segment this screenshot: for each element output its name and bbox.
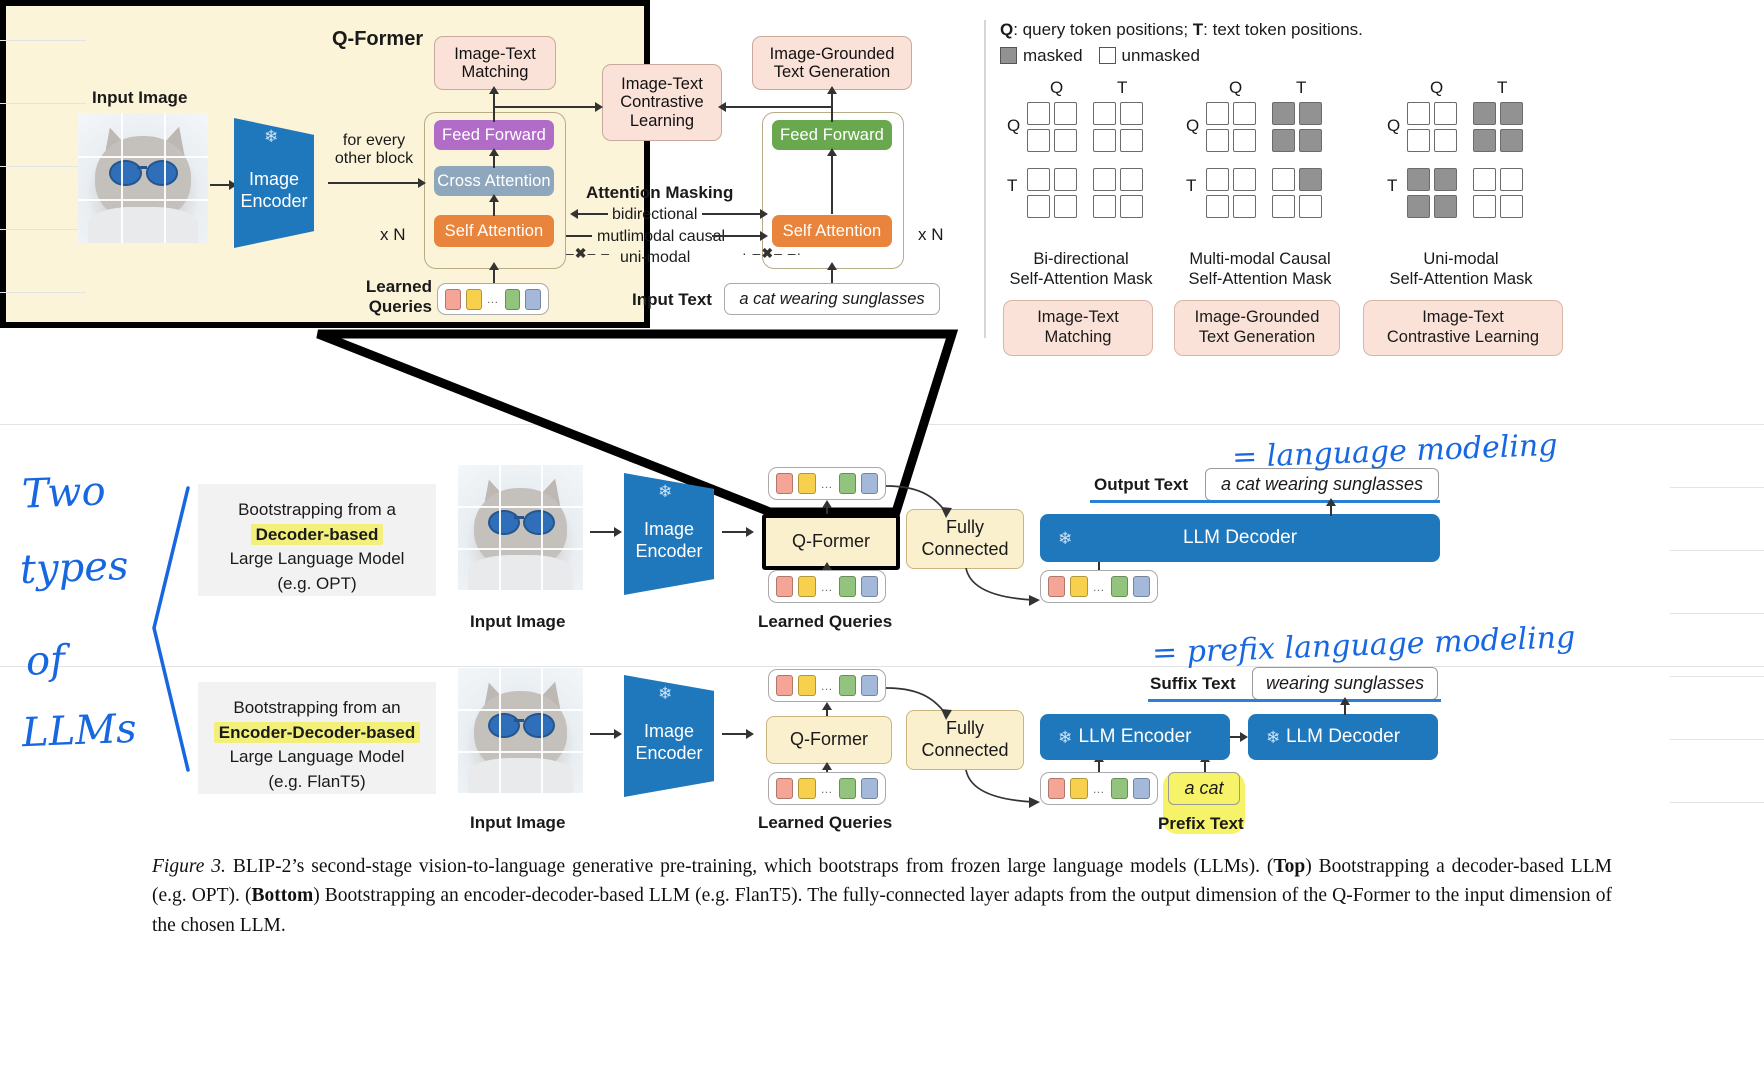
query-token-blue <box>861 778 878 799</box>
mask-cell-masked <box>1272 102 1295 125</box>
row2-qformer[interactable]: Q-Former <box>766 716 892 764</box>
legend-t-text: : text token positions. <box>1203 20 1363 39</box>
mask-cell-unmasked <box>1054 102 1077 125</box>
mask-cell-masked <box>1299 168 1322 191</box>
arrowhead <box>827 148 837 156</box>
mask-cell-masked <box>1407 195 1430 218</box>
mask-cell-unmasked <box>1206 102 1229 125</box>
mask-cell-masked <box>1299 102 1322 125</box>
row1-handwritten-annotation: = language modeling <box>1231 428 1558 475</box>
query-token-yellow <box>798 473 815 494</box>
query-token-green <box>1111 778 1128 799</box>
row2-input-image-label: Input Image <box>470 813 565 833</box>
mask-cell-unmasked <box>1093 102 1116 125</box>
qformer-input-text-label: Input Text <box>632 290 712 310</box>
arrowhead <box>718 102 726 112</box>
arrowhead <box>1340 697 1350 705</box>
query-token-green <box>505 289 521 310</box>
row1-llm-decoder: LLM Decoder <box>1040 514 1440 562</box>
mask-grid <box>1407 102 1525 220</box>
mask-cell-masked <box>1473 102 1496 125</box>
query-token-yellow <box>798 675 815 696</box>
arrowhead <box>827 262 837 270</box>
arrowhead <box>489 262 499 270</box>
arrow-image-to-encoder <box>210 184 230 186</box>
query-token-red <box>776 576 793 597</box>
row1-image-encoder-label: Image Encoder <box>635 505 702 562</box>
query-token-green <box>839 675 856 696</box>
row1-learned-queries: … <box>768 570 886 603</box>
row1-learned-queries-label: Learned Queries <box>758 612 892 632</box>
mask-cell-masked <box>1407 168 1430 191</box>
mask-cell-masked <box>1272 129 1295 152</box>
query-token-red <box>445 289 461 310</box>
token-ellipsis: … <box>821 580 834 594</box>
mask-cell-masked <box>1500 102 1523 125</box>
mask-cell-unmasked <box>1434 102 1457 125</box>
arrowhead <box>746 527 754 537</box>
query-token-blue <box>1133 778 1150 799</box>
arrowhead <box>489 86 499 94</box>
unmasked-label: unmasked <box>1122 46 1200 66</box>
arrowhead <box>760 209 768 219</box>
masked-swatch-icon <box>1000 47 1017 64</box>
snowflake-icon: ❄ <box>658 483 672 500</box>
arrowhead <box>595 102 603 112</box>
mask-cell-unmasked <box>1206 168 1229 191</box>
legend-q-text: : query token positions; <box>1013 20 1193 39</box>
arrow-encoder-to-cross <box>328 182 422 184</box>
qformer-input-text-value[interactable]: a cat wearing sunglasses <box>724 283 940 315</box>
caption-text: BLIP-2’s second-stage vision-to-language… <box>152 856 1612 936</box>
query-token-yellow <box>798 778 815 799</box>
mask-cell-unmasked <box>1093 195 1116 218</box>
mask-grid <box>1027 102 1145 220</box>
snowflake-icon: ❄ <box>658 685 672 702</box>
page-rule <box>1670 676 1764 677</box>
mask-cell-unmasked <box>1027 129 1050 152</box>
mask-group-multimodal-causal: Q T Q T Multi-modal Causal Self-Attentio… <box>1172 78 1352 220</box>
mask-cell-unmasked <box>1272 168 1295 191</box>
arrowhead <box>822 762 832 770</box>
arrowhead <box>822 702 832 710</box>
mask-cell-unmasked <box>1473 195 1496 218</box>
mask-col-label-q: Q <box>1430 78 1443 98</box>
query-token-blue <box>861 473 878 494</box>
learned-queries-label: Learned Queries <box>352 277 432 316</box>
page-rule <box>1670 613 1764 614</box>
mask-cell-masked <box>1434 195 1457 218</box>
right-block-repeat-label: x N <box>918 225 944 245</box>
row1-arrow-encoder-to-qformer <box>722 531 748 533</box>
mask-cell-unmasked <box>1120 168 1143 191</box>
image-encoder-label: Image Encoder <box>240 153 307 212</box>
arrowhead <box>1240 732 1248 742</box>
token-ellipsis: … <box>1093 580 1106 594</box>
arrowhead <box>822 562 832 570</box>
token-ellipsis: … <box>487 292 500 306</box>
handwriting-line-types: types <box>19 543 129 593</box>
mask-cell-unmasked <box>1500 168 1523 191</box>
mask-arrow-unimodal-dashed: –✖– – <box>566 245 610 261</box>
attention-masking-title: Attention Masking <box>586 183 733 203</box>
left-feed-forward: Feed Forward <box>434 120 554 150</box>
mask-cell-masked <box>1434 168 1457 191</box>
mask-row-label-q: Q <box>1387 116 1400 136</box>
row2-prefix-text-label: Prefix Text <box>1158 814 1244 834</box>
mask-arrow-causal <box>566 235 592 237</box>
left-self-attention: Self Attention <box>434 215 554 247</box>
mask-cell-unmasked <box>1407 129 1430 152</box>
mask-grid <box>1206 102 1324 220</box>
mask-cell-unmasked <box>1233 129 1256 152</box>
arrowhead <box>822 500 832 508</box>
row2-desc-line1: Bootstrapping from an <box>208 696 426 721</box>
figure-caption: Figure 3. BLIP-2’s second-stage vision-t… <box>152 852 1612 940</box>
query-token-green <box>839 473 856 494</box>
mask-task-pill: Image-Text Matching <box>1003 300 1153 356</box>
arrow-right-ff-to-itg <box>831 92 833 122</box>
mask-cell-unmasked <box>1233 168 1256 191</box>
mask-col-label-q: Q <box>1050 78 1063 98</box>
mask-arrow-causal-right <box>712 235 764 237</box>
mask-cell-unmasked <box>1233 102 1256 125</box>
caption-label: Figure 3. <box>152 856 226 877</box>
mask-cell-unmasked <box>1054 129 1077 152</box>
mask-row-label-t: T <box>1186 176 1196 196</box>
mask-legend-line2: masked unmasked <box>1000 46 1200 66</box>
arrow-left-to-itc <box>493 106 601 108</box>
mask-cell-unmasked <box>1027 168 1050 191</box>
row1-desc-line4: (e.g. OPT) <box>208 572 426 597</box>
row1-curve-tokens-to-fc <box>884 474 984 524</box>
row2-input-image <box>458 668 583 793</box>
mask-cell-unmasked <box>1093 129 1116 152</box>
query-token-green <box>839 778 856 799</box>
arrow-right-self-to-ff <box>831 152 833 214</box>
row2-arrow-image-to-encoder <box>590 733 616 735</box>
learned-queries-tokens: … <box>437 283 549 315</box>
arrowhead <box>614 729 622 739</box>
page-rule <box>0 166 86 167</box>
arrowhead <box>746 729 754 739</box>
mask-task-pill: Image-Text Contrastive Learning <box>1363 300 1563 356</box>
row1-llm-input-tokens: … <box>1040 570 1158 603</box>
mask-cell-unmasked <box>1434 129 1457 152</box>
snowflake-icon: ❄ <box>1266 729 1280 746</box>
left-block-repeat-label: x N <box>380 225 406 245</box>
mask-cell-unmasked <box>1027 195 1050 218</box>
mask-col-label-t: T <box>1497 78 1507 98</box>
mask-cell-unmasked <box>1054 195 1077 218</box>
row2-desc-highlight: Encoder-Decoder-based <box>214 722 421 743</box>
query-token-blue <box>861 675 878 696</box>
right-self-attention: Self Attention <box>772 215 892 247</box>
legend-t-symbol: T <box>1193 20 1203 39</box>
mask-group-bidirectional: Q T Q T Bi-directional Self-Attention Ma… <box>993 78 1173 220</box>
token-ellipsis: … <box>821 477 834 491</box>
mask-cell-unmasked <box>1407 102 1430 125</box>
top-input-image-label: Input Image <box>92 88 187 108</box>
mask-caption: Uni-modal Self-Attention Mask <box>1371 250 1551 290</box>
mask-arrow-bidirectional-right <box>702 213 764 215</box>
mask-cell-unmasked <box>1120 129 1143 152</box>
mask-col-label-t: T <box>1296 78 1306 98</box>
qformer-title: Q-Former <box>332 28 423 51</box>
mask-row-label-t: T <box>1387 176 1397 196</box>
snowflake-icon: ❄ <box>1058 530 1072 547</box>
masked-label: masked <box>1023 46 1083 66</box>
arrowhead <box>1326 498 1336 506</box>
mask-row-label-q: Q <box>1007 116 1020 136</box>
mask-cell-unmasked <box>1500 195 1523 218</box>
row1-desc-line1: Bootstrapping from a <box>208 498 426 523</box>
for-every-other-block-label: for every other block <box>328 132 420 169</box>
row2-learned-queries: … <box>768 772 886 805</box>
page-rule <box>1670 550 1764 551</box>
objective-image-grounded-text-generation: Image-Grounded Text Generation <box>752 36 912 90</box>
query-token-green <box>839 576 856 597</box>
page-rule <box>0 103 86 104</box>
mask-row-label-q: Q <box>1186 116 1199 136</box>
query-token-red <box>776 473 793 494</box>
query-token-yellow <box>798 576 815 597</box>
row1-annotation-underline <box>1090 500 1440 503</box>
query-token-red <box>776 675 793 696</box>
mask-task-pill: Image-Grounded Text Generation <box>1174 300 1340 356</box>
row2-llm-input-tokens: … <box>1040 772 1158 805</box>
page-rule <box>0 229 86 230</box>
top-input-image <box>78 113 208 243</box>
handwriting-line-two: Two <box>21 468 106 517</box>
arrowhead <box>570 209 578 219</box>
query-token-red <box>1048 778 1065 799</box>
row2-qformer-output-tokens: … <box>768 669 886 702</box>
mask-caption: Multi-modal Causal Self-Attention Mask <box>1170 250 1350 290</box>
mask-cell-unmasked <box>1473 168 1496 191</box>
row2-handwritten-annotation: = prefix language modeling <box>1151 620 1575 671</box>
mask-arrow-bidirectional-left <box>576 213 608 215</box>
arrowhead <box>489 148 499 156</box>
row2-description: Bootstrapping from an Encoder-Decoder-ba… <box>198 682 436 794</box>
page-rule <box>0 40 86 41</box>
mask-cell-unmasked <box>1027 102 1050 125</box>
unmasked-swatch-icon <box>1099 47 1116 64</box>
page-rule <box>0 424 1764 425</box>
mask-cell-unmasked <box>1093 168 1116 191</box>
handwriting-brace <box>140 480 200 780</box>
token-ellipsis: … <box>821 782 834 796</box>
row1-input-image-label: Input Image <box>470 612 565 632</box>
mask-cell-unmasked <box>1233 195 1256 218</box>
mask-mode-unimodal: uni-modal <box>620 249 690 267</box>
mask-cell-unmasked <box>1054 168 1077 191</box>
row1-arrow-image-to-encoder <box>590 531 616 533</box>
query-token-green <box>1111 576 1128 597</box>
row1-qformer-output-tokens: … <box>768 467 886 500</box>
row2-image-encoder-label: Image Encoder <box>635 707 702 764</box>
mask-mode-bidirectional: bidirectional <box>612 206 697 224</box>
row1-desc-highlight: Decoder-based <box>251 524 384 545</box>
mask-row-label-t: T <box>1007 176 1017 196</box>
mask-cell-masked <box>1473 129 1496 152</box>
handwriting-line-of: of <box>25 637 66 684</box>
row1-description: Bootstrapping from a Decoder-based Large… <box>198 484 436 596</box>
arrowhead <box>489 194 499 202</box>
mask-cell-unmasked <box>1120 195 1143 218</box>
row2-suffix-text-value[interactable]: wearing sunglasses <box>1252 667 1438 700</box>
mask-group-unimodal: Q T Q T Uni-modal Self-Attention Mask Im… <box>1373 78 1553 220</box>
arrowhead <box>418 178 426 188</box>
row2-desc-line4: (e.g. FlanT5) <box>208 770 426 795</box>
objective-image-text-matching: Image-Text Matching <box>434 36 556 90</box>
mask-cell-unmasked <box>1206 129 1229 152</box>
query-token-blue <box>1133 576 1150 597</box>
row2-prefix-text-value[interactable]: a cat <box>1168 772 1240 805</box>
arrowhead <box>614 527 622 537</box>
page-rule <box>1670 739 1764 740</box>
mask-arrow-unimodal-dashed-right: · –✖– –· <box>742 245 802 261</box>
page-rule <box>1670 487 1764 488</box>
row2-curve-tokens-to-fc <box>884 676 984 726</box>
handwriting-line-llms: LLMs <box>21 706 137 756</box>
mask-mode-multimodal-causal: mutlimodal causal <box>597 228 725 246</box>
row2-arrow-encoder-to-qformer <box>722 733 748 735</box>
row2-annotation-underline <box>1148 699 1441 702</box>
arrowhead <box>760 231 768 241</box>
objective-image-text-contrastive-learning: Image-Text Contrastive Learning <box>602 64 722 141</box>
arrowhead <box>827 86 837 94</box>
legend-q-symbol: Q <box>1000 20 1013 39</box>
mask-col-label-q: Q <box>1229 78 1242 98</box>
mask-cell-unmasked <box>1272 195 1295 218</box>
query-token-blue <box>525 289 541 310</box>
row2-suffix-text-label: Suffix Text <box>1150 674 1236 694</box>
query-token-yellow <box>1070 576 1087 597</box>
page-rule <box>0 292 86 293</box>
mask-legend-line1: Q: query token positions; T: text token … <box>1000 20 1363 40</box>
arrow-right-to-itc <box>722 106 832 108</box>
row1-desc-line3: Large Language Model <box>208 547 426 572</box>
mask-cell-masked <box>1500 129 1523 152</box>
token-ellipsis: … <box>1093 782 1106 796</box>
mask-cell-unmasked <box>1299 195 1322 218</box>
row2-learned-queries-label: Learned Queries <box>758 813 892 833</box>
token-ellipsis: … <box>821 679 834 693</box>
snowflake-icon: ❄ <box>264 128 278 145</box>
row2-desc-line3: Large Language Model <box>208 745 426 770</box>
page-rule <box>0 666 1764 667</box>
query-token-yellow <box>1070 778 1087 799</box>
mask-cell-masked <box>1299 129 1322 152</box>
left-cross-attention: Cross Attention <box>434 166 554 196</box>
mask-cell-unmasked <box>1206 195 1229 218</box>
row1-input-image <box>458 465 583 590</box>
query-token-red <box>776 778 793 799</box>
mask-col-label-t: T <box>1117 78 1127 98</box>
mask-cell-unmasked <box>1120 102 1143 125</box>
query-token-blue <box>861 576 878 597</box>
legend-divider <box>984 20 986 338</box>
query-token-red <box>1048 576 1065 597</box>
page-rule <box>1670 802 1764 803</box>
query-token-yellow <box>466 289 482 310</box>
right-feed-forward: Feed Forward <box>772 120 892 150</box>
mask-caption: Bi-directional Self-Attention Mask <box>991 250 1171 290</box>
snowflake-icon: ❄ <box>1058 729 1072 746</box>
row1-output-text-label: Output Text <box>1094 475 1188 495</box>
